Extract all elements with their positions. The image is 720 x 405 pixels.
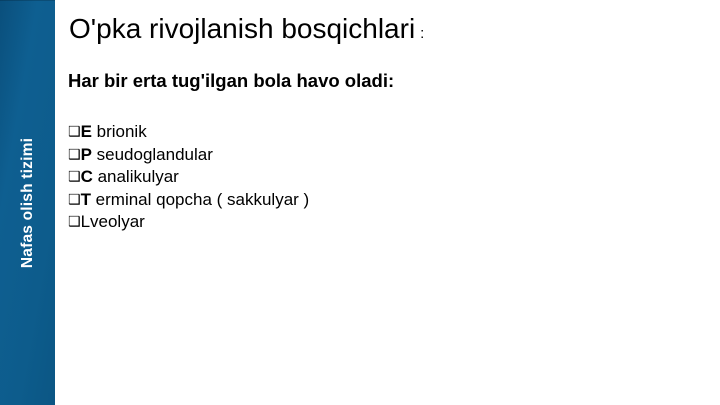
list-item-text: Lveolyar (81, 212, 145, 231)
list-item-lead: P (81, 145, 92, 164)
sidebar-band: Nafas olish tizimi (0, 0, 55, 405)
list-item-text: brionik (92, 122, 147, 141)
list-item-text: seudoglandular (92, 145, 213, 164)
list-item-text: analikulyar (93, 167, 179, 186)
list-item: ❑P seudoglandular (68, 144, 309, 167)
hollow-square-bullet-icon: ❑ (68, 147, 81, 163)
slide-content: O'pka rivojlanish bosqichlari: Har bir e… (55, 0, 720, 405)
list-item-lead: E (81, 122, 92, 141)
list-item: ❑C analikulyar (68, 166, 309, 189)
page-title: O'pka rivojlanish bosqichlari: (69, 13, 424, 45)
slide-canvas: Nafas olish tizimi O'pka rivojlanish bos… (0, 0, 720, 405)
hollow-square-bullet-icon: ❑ (68, 214, 81, 230)
page-title-colon: : (415, 25, 424, 42)
page-title-text: O'pka rivojlanish bosqichlari (69, 13, 415, 44)
list-item: ❑Lveolyar (68, 211, 309, 234)
list-item: ❑E brionik (68, 121, 309, 144)
subtitle: Har bir erta tug'ilgan bola havo oladi: (68, 70, 394, 92)
list-item-lead: T (81, 190, 91, 209)
hollow-square-bullet-icon: ❑ (68, 169, 81, 185)
list-item-lead: C (81, 167, 93, 186)
sidebar-vertical-title: Nafas olish tizimi (19, 137, 37, 267)
list-item-text: erminal qopcha ( sakkulyar ) (91, 190, 309, 209)
bullet-list: ❑E brionik ❑P seudoglandular ❑C analikul… (68, 121, 309, 234)
hollow-square-bullet-icon: ❑ (68, 124, 81, 140)
hollow-square-bullet-icon: ❑ (68, 192, 81, 208)
list-item: ❑T erminal qopcha ( sakkulyar ) (68, 189, 309, 212)
